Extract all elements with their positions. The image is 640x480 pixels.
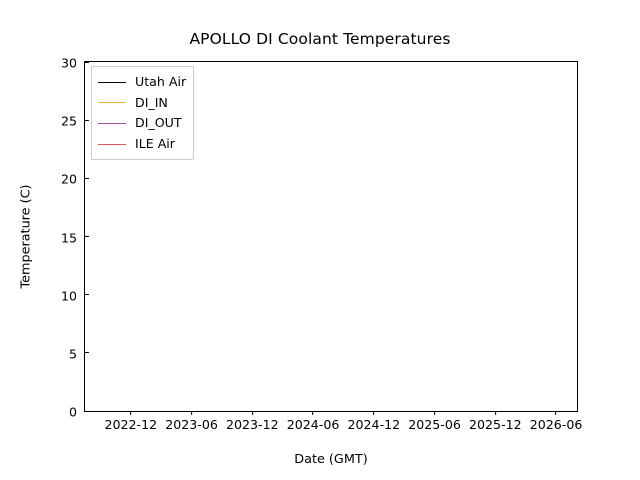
- x-axis-tick-mark: [434, 411, 435, 415]
- chart-title: APOLLO DI Coolant Temperatures: [0, 30, 640, 48]
- legend-item[interactable]: DI_OUT: [98, 113, 186, 134]
- x-axis-tick-mark: [252, 411, 253, 415]
- x-axis-tick: 2025-06: [408, 411, 461, 433]
- y-axis-tick-mark: [85, 178, 89, 179]
- legend-color-swatch: [98, 144, 126, 145]
- y-axis-tick-label: 30: [61, 57, 85, 70]
- x-axis-tick: 2022-12: [105, 411, 158, 433]
- y-axis-tick-mark: [85, 410, 89, 411]
- y-axis-tick: 30: [61, 53, 85, 72]
- x-axis-tick: 2024-12: [348, 411, 401, 433]
- x-axis-tick-mark: [313, 411, 314, 415]
- x-axis-tick-mark: [495, 411, 496, 415]
- y-axis-tick: 25: [61, 111, 85, 130]
- x-axis-tick: 2026-06: [530, 411, 583, 433]
- legend-item[interactable]: ILE Air: [98, 134, 186, 155]
- x-axis-tick-mark: [373, 411, 374, 415]
- x-axis-tick: 2025-12: [469, 411, 522, 433]
- legend-item-label: DI_OUT: [135, 116, 182, 130]
- y-axis-tick-mark: [85, 352, 89, 353]
- x-axis-tick: 2024-06: [287, 411, 340, 433]
- legend-color-swatch: [98, 123, 126, 124]
- y-axis-tick-label: 10: [61, 289, 85, 302]
- legend-item[interactable]: DI_IN: [98, 93, 186, 114]
- x-axis-tick: 2023-06: [165, 411, 218, 433]
- y-axis-tick: 15: [61, 227, 85, 246]
- y-axis-tick-mark: [85, 61, 89, 62]
- y-axis-tick-label: 5: [69, 347, 85, 360]
- x-axis-tick-mark: [130, 411, 131, 415]
- legend-item[interactable]: Utah Air: [98, 72, 186, 93]
- x-axis-tick: 2023-12: [226, 411, 279, 433]
- legend-color-swatch: [98, 102, 126, 103]
- plot-area: 30 25 20 15 10 5 0 2022-12: [84, 61, 578, 412]
- legend-color-swatch: [98, 82, 126, 83]
- legend-item-label: Utah Air: [135, 75, 186, 89]
- x-axis-tick-mark: [191, 411, 192, 415]
- y-axis-tick-label: 0: [69, 406, 85, 419]
- chart-figure: APOLLO DI Coolant Temperatures 30 25 20 …: [0, 0, 640, 480]
- y-axis-tick-mark: [85, 120, 89, 121]
- y-axis-tick-label: 25: [61, 115, 85, 128]
- y-axis-tick: 5: [69, 343, 85, 362]
- y-axis-tick-label: 15: [61, 231, 85, 244]
- y-axis-title: Temperature (C): [19, 167, 34, 307]
- x-axis-title: Date (GMT): [84, 452, 578, 467]
- legend-item-label: DI_IN: [135, 96, 168, 110]
- y-axis-tick-label: 20: [61, 173, 85, 186]
- chart-legend[interactable]: Utah Air DI_IN DI_OUT ILE Air: [91, 66, 194, 160]
- y-axis-tick-mark: [85, 236, 89, 237]
- y-axis-tick: 0: [69, 402, 85, 421]
- y-axis-tick-mark: [85, 294, 89, 295]
- legend-item-label: ILE Air: [135, 137, 175, 151]
- x-axis-tick-mark: [556, 411, 557, 415]
- y-axis-tick: 20: [61, 169, 85, 188]
- y-axis-tick: 10: [61, 285, 85, 304]
